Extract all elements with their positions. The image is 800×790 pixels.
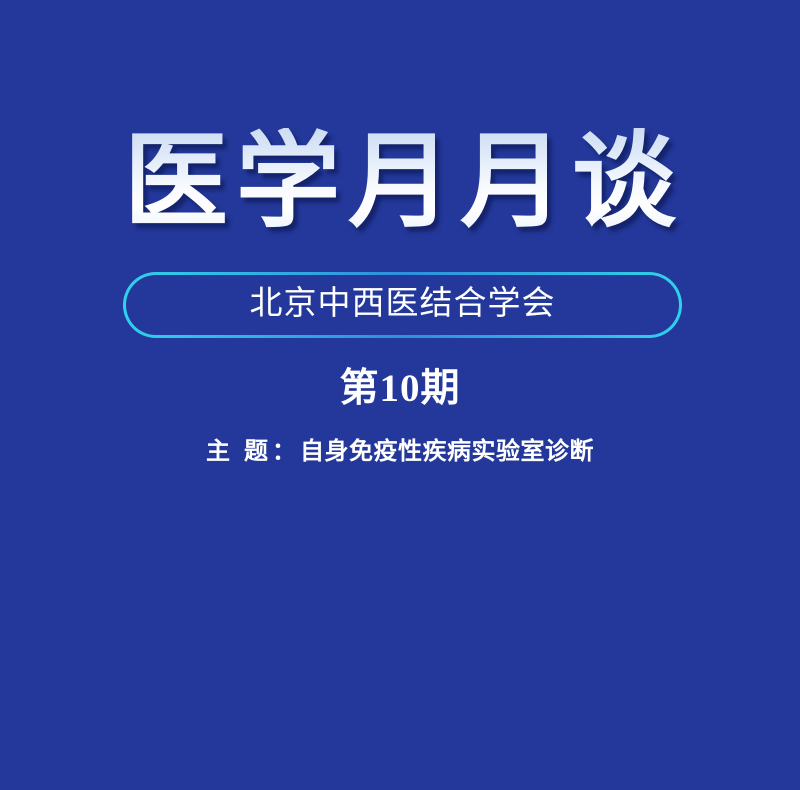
organization-badge: 北京中西医结合学会 <box>123 272 682 338</box>
issue-number: 第10期 <box>0 368 800 411</box>
organization-badge-inner: 北京中西医结合学会 <box>126 275 679 335</box>
topic-label: 主 题： <box>206 439 300 465</box>
poster-canvas: 医学月月谈 北京中西医结合学会 第10期 主 题：自身免疫性疾病实验室诊断 <box>0 0 800 790</box>
organization-name: 北京中西医结合学会 <box>250 288 556 321</box>
topic-line: 主 题：自身免疫性疾病实验室诊断 <box>0 438 800 467</box>
title-block: 医学月月谈 <box>0 128 800 238</box>
poster-main-title: 医学月月谈 <box>116 128 684 238</box>
topic-value: 自身免疫性疾病实验室诊断 <box>300 439 594 465</box>
